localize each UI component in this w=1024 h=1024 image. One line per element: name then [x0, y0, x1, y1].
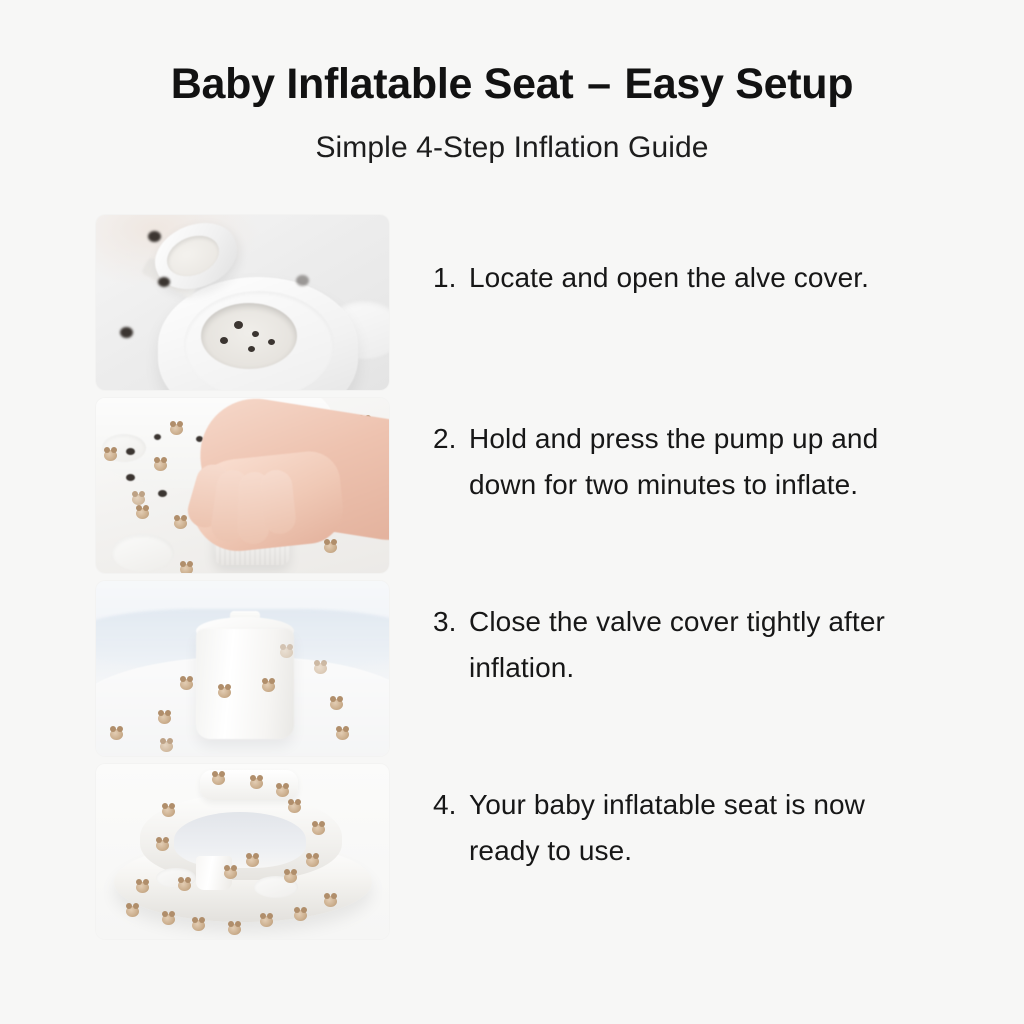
bear-print	[192, 920, 205, 931]
print-dot	[268, 339, 275, 345]
bear-print	[218, 687, 231, 698]
step-4-image	[96, 764, 389, 939]
print-dot	[120, 327, 133, 338]
bear-print	[126, 906, 139, 917]
bear-print	[306, 856, 319, 867]
bear-print	[136, 508, 149, 519]
page-title-strong: Baby Inflatable Seat	[171, 60, 574, 108]
step-1-image	[96, 215, 389, 390]
bear-print	[180, 679, 193, 690]
step-row: 2. Hold and press the pump up and down f…	[0, 398, 1024, 573]
step-4-body: Your baby inflatable seat is now ready t…	[469, 782, 939, 874]
bear-print	[136, 882, 149, 893]
step-1-number: 1.	[433, 255, 469, 301]
bear-print	[174, 518, 187, 529]
print-dot	[248, 346, 255, 352]
bear-print	[132, 494, 145, 505]
page-header: Baby Inflatable Seat – Easy Setup Simple…	[0, 0, 1024, 166]
step-3-image	[96, 581, 389, 756]
bear-print	[280, 647, 293, 658]
bear-print	[162, 806, 175, 817]
step-2-text: 2. Hold and press the pump up and down f…	[389, 398, 1024, 508]
print-dot	[158, 277, 170, 287]
print-dot	[252, 331, 259, 337]
print-dot	[154, 434, 161, 440]
seat-backrest-inner-shape	[174, 812, 306, 868]
bear-print	[260, 916, 273, 927]
bear-print	[336, 729, 349, 740]
step-3-body: Close the valve cover tightly after infl…	[469, 599, 939, 691]
bear-print	[330, 699, 343, 710]
bear-print	[162, 914, 175, 925]
bear-print	[314, 663, 327, 674]
bear-print	[160, 741, 173, 752]
bear-print	[250, 778, 263, 789]
step-2-number: 2.	[433, 416, 469, 462]
print-dot	[158, 490, 167, 497]
step-4-text: 4. Your baby inflatable seat is now read…	[389, 764, 1024, 874]
bear-print	[246, 856, 259, 867]
bear-print	[324, 896, 337, 907]
step-2-body: Hold and press the pump up and down for …	[469, 416, 939, 508]
bear-print	[154, 460, 167, 471]
bear-print	[276, 786, 289, 797]
page-title: Baby Inflatable Seat – Easy Setup	[0, 58, 1024, 110]
step-row: 1. Locate and open the alve cover.	[0, 215, 1024, 390]
step-4-number: 4.	[433, 782, 469, 828]
step-2-image	[96, 398, 389, 573]
steps-list: 1. Locate and open the alve cover.	[0, 215, 1024, 939]
bear-print	[180, 564, 193, 573]
step-1-body: Locate and open the alve cover.	[469, 255, 869, 301]
bear-print	[212, 774, 225, 785]
valve-opening-shape	[201, 303, 297, 369]
bear-print	[228, 924, 241, 935]
bear-print	[178, 880, 191, 891]
bear-print	[324, 542, 337, 553]
bear-print	[284, 872, 297, 883]
print-dot	[126, 474, 135, 481]
bear-print	[104, 450, 117, 461]
bear-print	[312, 824, 325, 835]
step-row: 4. Your baby inflatable seat is now read…	[0, 764, 1024, 939]
print-dot	[220, 337, 228, 344]
page-subtitle: Simple 4-Step Inflation Guide	[0, 130, 1024, 166]
bear-print	[262, 681, 275, 692]
bear-print	[158, 713, 171, 724]
page-title-light: Easy Setup	[624, 60, 853, 108]
bear-print	[170, 424, 183, 435]
page-title-separator: –	[585, 60, 613, 108]
step-1-text: 1. Locate and open the alve cover.	[389, 215, 1024, 301]
bear-print	[288, 802, 301, 813]
bear-print	[156, 840, 169, 851]
print-dot	[296, 275, 309, 286]
bear-print	[224, 868, 237, 879]
step-row: 3. Close the valve cover tightly after i…	[0, 581, 1024, 756]
step-3-text: 3. Close the valve cover tightly after i…	[389, 581, 1024, 691]
seat-recess-shape	[112, 534, 174, 572]
step-3-number: 3.	[433, 599, 469, 645]
bear-print	[294, 910, 307, 921]
bear-print	[110, 729, 123, 740]
print-dot	[234, 321, 243, 329]
print-dot	[126, 448, 135, 455]
print-dot	[148, 231, 161, 242]
